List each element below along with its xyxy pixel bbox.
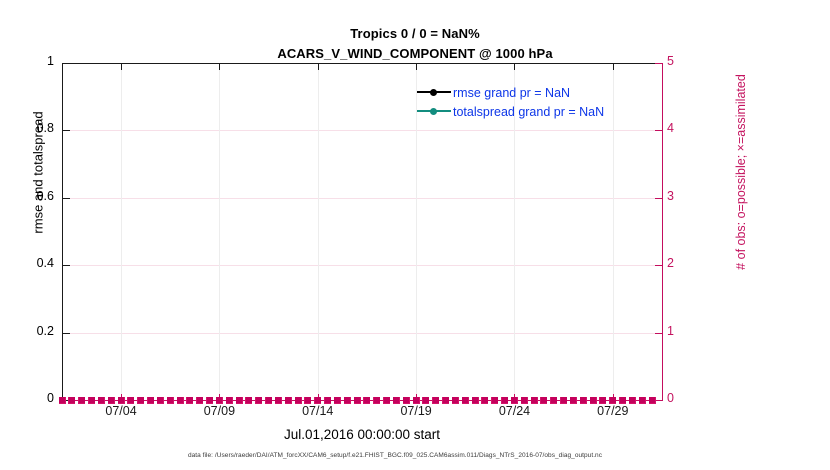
obs-assimilated-marker	[59, 397, 65, 403]
obs-assimilated-marker	[334, 397, 340, 403]
obs-assimilated-marker	[580, 397, 586, 403]
gridline-horizontal	[63, 265, 662, 266]
figure-canvas: Tropics 0 / 0 = NaN% ACARS_V_WIND_COMPON…	[0, 0, 830, 470]
obs-assimilated-marker	[433, 397, 439, 403]
y-axis-right-tick	[655, 333, 662, 334]
legend-item-totalspread[interactable]: totalspread grand pr = NaN	[417, 103, 657, 122]
obs-assimilated-marker	[89, 397, 95, 403]
chart-legend: rmse grand pr = NaN totalspread grand pr…	[417, 84, 657, 122]
obs-assimilated-marker	[502, 397, 508, 403]
obs-assimilated-marker	[600, 397, 606, 403]
obs-assimilated-marker	[148, 397, 154, 403]
obs-assimilated-marker	[325, 397, 331, 403]
obs-assimilated-marker	[443, 397, 449, 403]
obs-assimilated-marker	[118, 397, 124, 403]
x-axis-tick-label: 07/14	[278, 404, 358, 418]
obs-assimilated-marker	[167, 397, 173, 403]
obs-assimilated-marker	[482, 397, 488, 403]
gridline-horizontal	[63, 130, 662, 131]
obs-assimilated-marker	[236, 397, 242, 403]
obs-assimilated-marker	[462, 397, 468, 403]
obs-assimilated-marker	[108, 397, 114, 403]
obs-assimilated-marker	[197, 397, 203, 403]
obs-assimilated-marker	[531, 397, 537, 403]
obs-assimilated-marker	[403, 397, 409, 403]
legend-dot-icon	[430, 108, 437, 115]
obs-assimilated-marker	[649, 397, 655, 403]
y-axis-left-tick	[63, 130, 70, 131]
y-axis-right-tick-label: 5	[667, 54, 707, 68]
obs-assimilated-marker	[216, 397, 222, 403]
gridline-horizontal	[63, 333, 662, 334]
obs-assimilated-marker	[226, 397, 232, 403]
x-axis-tick-top	[318, 64, 319, 70]
y-axis-right-tick	[655, 130, 662, 131]
axis-right-spine	[662, 63, 663, 401]
x-axis-tick-top	[219, 64, 220, 70]
legend-line-marker-totalspread	[417, 110, 451, 112]
obs-assimilated-marker	[610, 397, 616, 403]
obs-assimilated-marker	[393, 397, 399, 403]
gridline-vertical	[318, 64, 319, 400]
obs-assimilated-marker	[266, 397, 272, 403]
y-axis-right-tick-label: 1	[667, 324, 707, 338]
obs-assimilated-marker	[187, 397, 193, 403]
legend-dot-icon	[430, 89, 437, 96]
obs-assimilated-marker	[315, 397, 321, 403]
gridline-vertical	[121, 64, 122, 400]
obs-assimilated-marker	[128, 397, 134, 403]
obs-assimilated-marker	[275, 397, 281, 403]
obs-assimilated-marker	[629, 397, 635, 403]
obs-assimilated-marker	[472, 397, 478, 403]
x-axis-tick-top	[416, 64, 417, 70]
obs-assimilated-marker	[364, 397, 370, 403]
x-axis-tick-top	[613, 64, 614, 70]
obs-assimilated-marker	[295, 397, 301, 403]
y-axis-right-title: # of obs: o=possible; ×=assimilated	[734, 22, 748, 322]
y-axis-left-tick	[63, 333, 70, 334]
obs-assimilated-marker	[452, 397, 458, 403]
axis-left-spine	[62, 63, 63, 401]
x-axis-tick-label: 07/24	[474, 404, 554, 418]
y-axis-left-tick-label: 0.2	[6, 324, 54, 338]
legend-item-rmse[interactable]: rmse grand pr = NaN	[417, 84, 657, 103]
obs-assimilated-marker	[256, 397, 262, 403]
y-axis-right-tick-label: 2	[667, 256, 707, 270]
obs-assimilated-marker	[541, 397, 547, 403]
obs-assimilated-marker	[639, 397, 645, 403]
obs-assimilated-marker	[157, 397, 163, 403]
obs-assimilated-marker	[620, 397, 626, 403]
data-file-footer: data file: /Users/raeder/DAI/ATM_forcXX/…	[0, 452, 790, 459]
legend-label-totalspread: totalspread grand pr = NaN	[453, 105, 604, 119]
obs-assimilated-marker	[561, 397, 567, 403]
obs-assimilated-marker	[521, 397, 527, 403]
y-axis-left-tick	[63, 198, 70, 199]
y-axis-left-tick	[63, 63, 70, 64]
gridline-horizontal	[63, 198, 662, 199]
obs-assimilated-marker	[551, 397, 557, 403]
x-axis-tick-top	[514, 64, 515, 70]
obs-assimilated-marker	[570, 397, 576, 403]
obs-assimilated-marker	[138, 397, 144, 403]
y-axis-right-tick	[655, 400, 662, 401]
obs-assimilated-marker	[177, 397, 183, 403]
obs-assimilated-marker	[246, 397, 252, 403]
y-axis-right-tick-label: 4	[667, 121, 707, 135]
y-axis-left-tick-label: 0	[6, 391, 54, 405]
x-axis-tick-label: 07/04	[81, 404, 161, 418]
x-axis-tick-top	[121, 64, 122, 70]
obs-assimilated-marker	[69, 397, 75, 403]
obs-assimilated-marker	[384, 397, 390, 403]
obs-assimilated-marker	[344, 397, 350, 403]
legend-label-rmse: rmse grand pr = NaN	[453, 86, 570, 100]
gridline-vertical	[219, 64, 220, 400]
obs-assimilated-marker	[423, 397, 429, 403]
y-axis-right-tick-label: 3	[667, 189, 707, 203]
y-axis-right-tick	[655, 265, 662, 266]
x-axis-title: Jul.01,2016 00:00:00 start	[0, 427, 724, 442]
obs-assimilated-marker	[413, 397, 419, 403]
obs-assimilated-marker	[79, 397, 85, 403]
obs-assimilated-marker	[374, 397, 380, 403]
obs-assimilated-marker	[285, 397, 291, 403]
axis-top-spine	[62, 63, 663, 64]
x-axis-tick-label: 07/29	[573, 404, 653, 418]
chart-title-line-1: Tropics 0 / 0 = NaN%	[0, 24, 830, 44]
y-axis-left-tick	[63, 265, 70, 266]
obs-assimilated-marker	[98, 397, 104, 403]
obs-assimilated-marker	[511, 397, 517, 403]
x-axis-tick-label: 07/09	[179, 404, 259, 418]
y-axis-left-title: rmse and totalspread	[31, 43, 46, 303]
obs-assimilated-marker	[207, 397, 213, 403]
obs-assimilated-marker	[354, 397, 360, 403]
obs-assimilated-marker	[492, 397, 498, 403]
y-axis-right-tick	[655, 63, 662, 64]
y-axis-right-tick	[655, 198, 662, 199]
obs-assimilated-marker	[590, 397, 596, 403]
legend-line-marker-rmse	[417, 91, 451, 93]
x-axis-tick-label: 07/19	[376, 404, 456, 418]
obs-assimilated-marker	[305, 397, 311, 403]
y-axis-right-tick-label: 0	[667, 391, 707, 405]
